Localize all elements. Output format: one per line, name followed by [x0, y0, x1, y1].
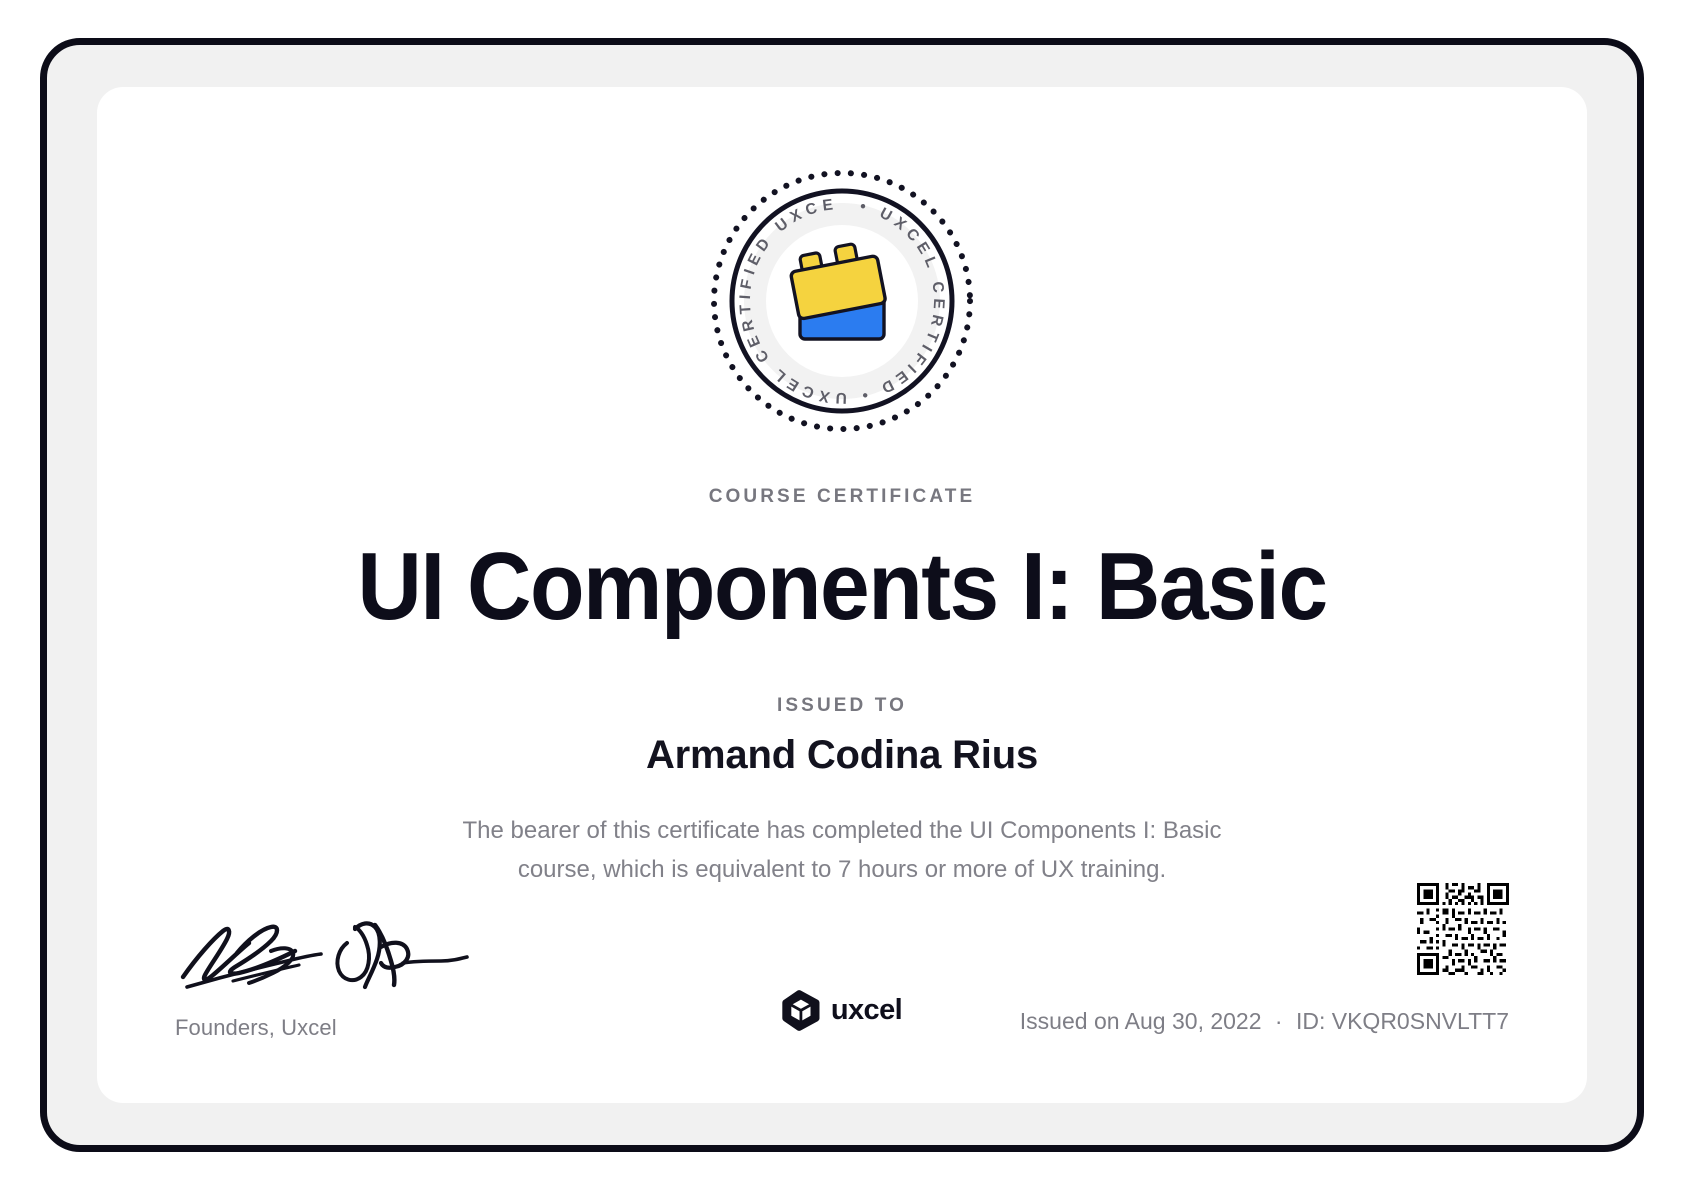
- certificate-id-value: VKQR0SNVLTT7: [1332, 1008, 1509, 1034]
- issued-on-date: Aug 30, 2022: [1125, 1008, 1262, 1034]
- certificate-id-label: ID:: [1296, 1008, 1325, 1034]
- uxcel-wordmark: uxcel: [831, 994, 902, 1027]
- course-title: UI Components I: Basic: [149, 535, 1535, 639]
- certificate-frame: • UXCEL CERTIFIED • UXCEL CERTIFIED UXCE…: [40, 38, 1644, 1152]
- founders-signature-image: [175, 917, 475, 999]
- certificate-qr-code[interactable]: [1417, 883, 1509, 975]
- signature-block: Founders, Uxcel: [175, 917, 535, 1041]
- uxcel-certified-seal: • UXCEL CERTIFIED • UXCEL CERTIFIED UXCE…: [706, 165, 978, 437]
- meta-separator: ·: [1268, 1008, 1290, 1034]
- recipient-name: Armand Codina Rius: [97, 733, 1587, 778]
- uxcel-brand-logo: uxcel: [782, 990, 902, 1031]
- certificate-description: The bearer of this certificate has compl…: [452, 812, 1232, 890]
- founders-label: Founders, Uxcel: [175, 1015, 535, 1041]
- issue-meta: Issued on Aug 30, 2022 · ID: VKQR0SNVLTT…: [1020, 1008, 1509, 1035]
- course-certificate-label: COURSE CERTIFICATE: [97, 486, 1587, 508]
- certificate-card: • UXCEL CERTIFIED • UXCEL CERTIFIED UXCE…: [97, 87, 1587, 1103]
- issued-on-prefix: Issued on: [1020, 1008, 1120, 1034]
- uxcel-cube-icon: [782, 990, 820, 1031]
- issued-to-label: ISSUED TO: [97, 695, 1587, 717]
